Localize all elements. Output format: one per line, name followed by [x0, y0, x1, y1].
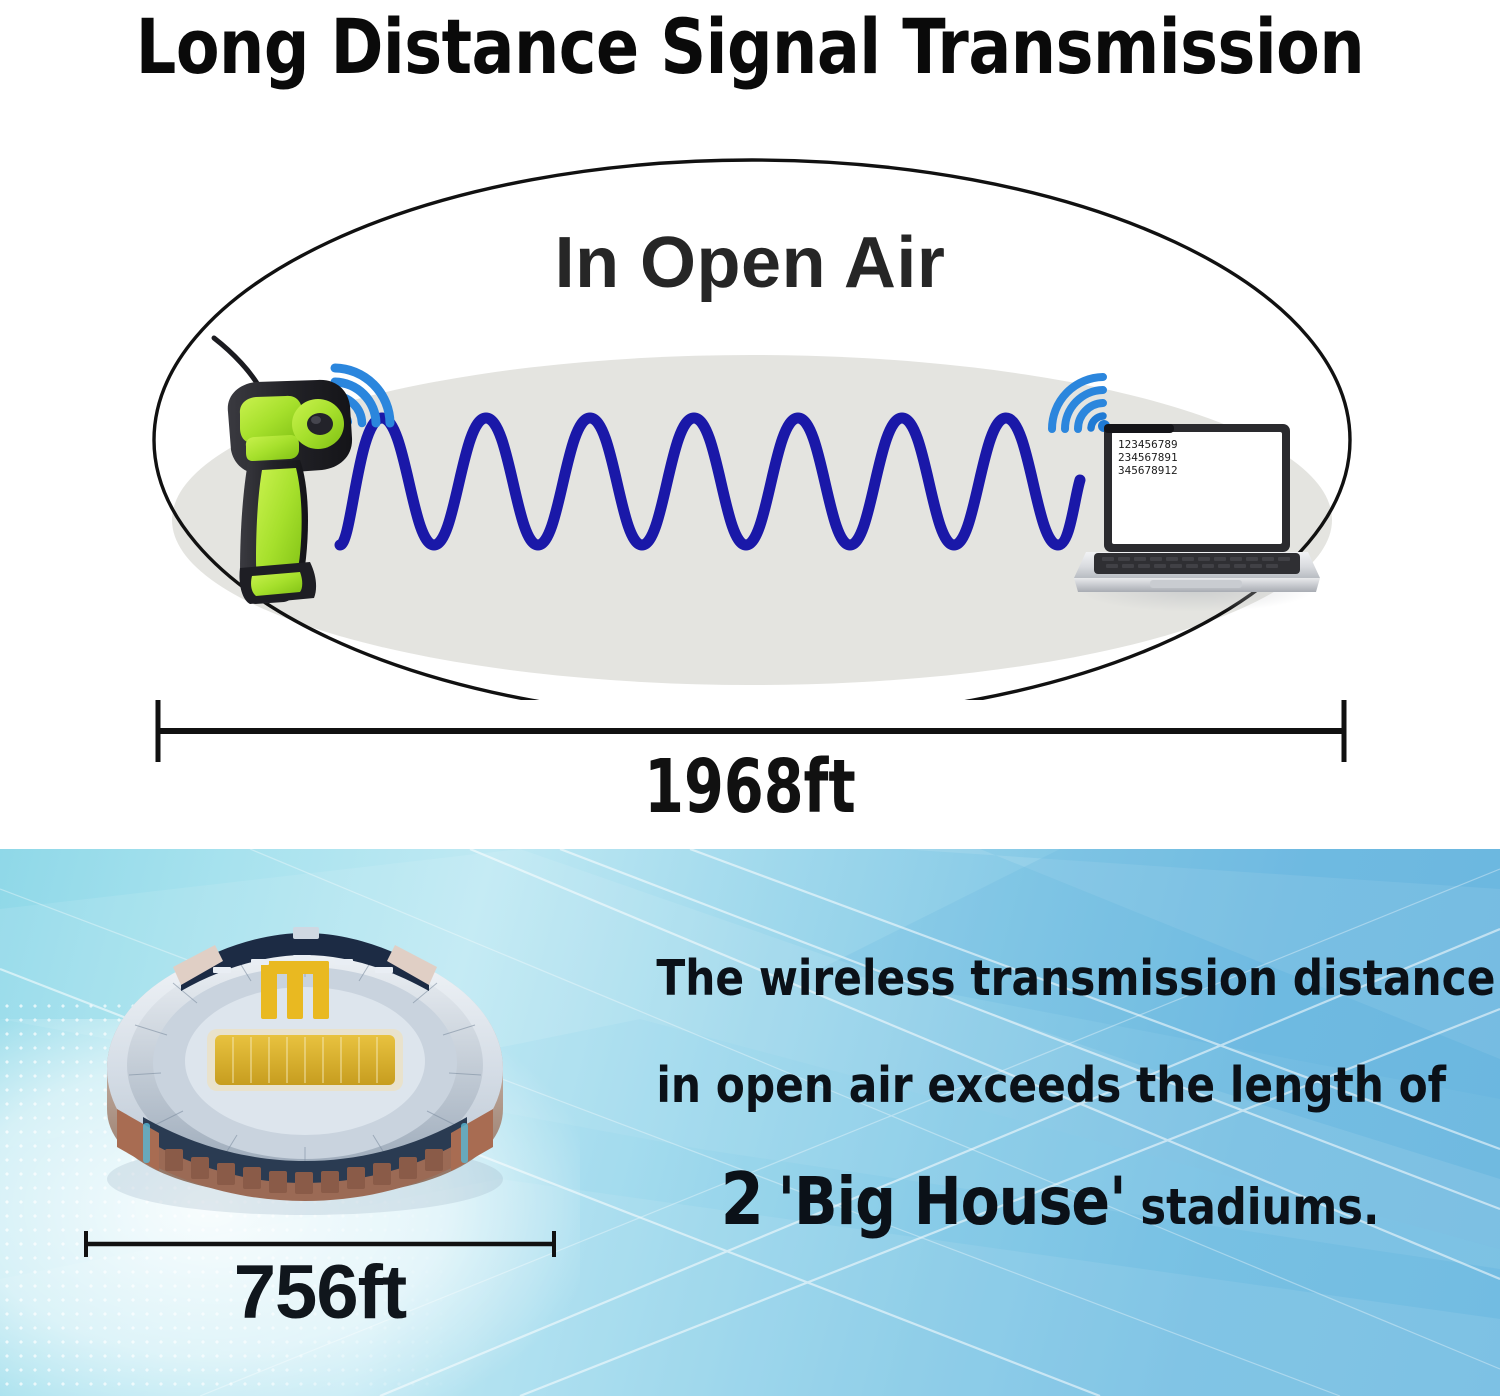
- infographic-root: Long Distance Signal Transmission: [0, 0, 1500, 1396]
- comparison-copy: The wireless transmission distance in op…: [640, 953, 1460, 1237]
- copy-stadium-name: 'Big House': [778, 1163, 1126, 1240]
- open-air-distance-label: 1968ft: [105, 744, 1395, 830]
- copy-line-1: The wireless transmission distance: [656, 953, 1443, 1004]
- laptop-screen-line-2: 234567891: [1118, 451, 1178, 464]
- stadium-icon: [55, 879, 555, 1219]
- laptop-screen-line-1: 123456789: [1118, 438, 1178, 451]
- copy-stadium-count: 2: [721, 1157, 763, 1241]
- stadium-comparison-panel: 756ft The wireless transmission distance…: [0, 849, 1500, 1396]
- open-air-panel: Long Distance Signal Transmission: [0, 0, 1500, 845]
- copy-line-2: in open air exceeds the length of: [656, 1060, 1443, 1111]
- copy-stadium-tail: stadiums.: [1140, 1178, 1379, 1236]
- laptop-icon: 123456789 234567891 345678912: [1074, 424, 1320, 612]
- stadium-length-label: 756ft: [60, 1249, 580, 1336]
- laptop-screen-line-3: 345678912: [1118, 464, 1178, 477]
- stadium-illustration: [55, 879, 555, 1219]
- copy-line-3: 2 'Big House' stadiums.: [656, 1162, 1443, 1238]
- open-air-scene: 123456789 234567891 345678912: [0, 0, 1500, 845]
- open-air-label: In Open Air: [0, 222, 1500, 304]
